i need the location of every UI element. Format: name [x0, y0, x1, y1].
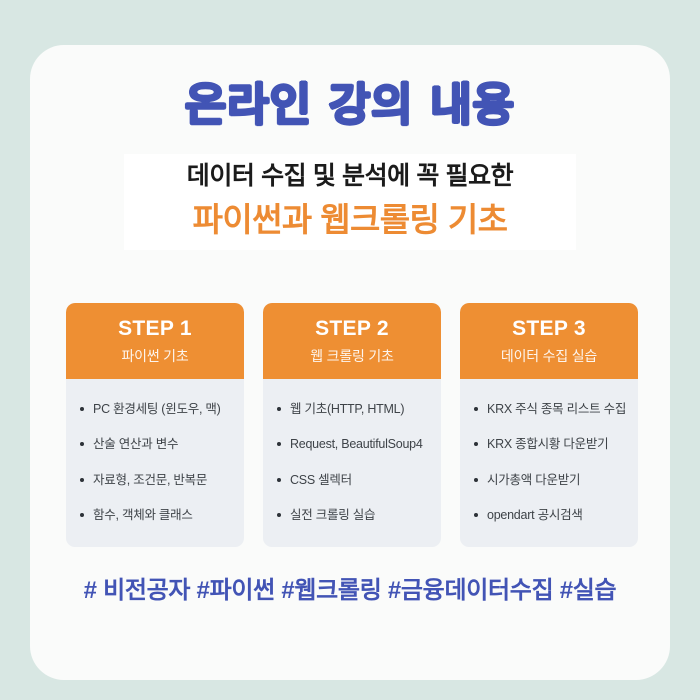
- hashtag-footer: # 비전공자 #파이썬 #웹크롤링 #금융데이터수집 #실습: [30, 570, 670, 605]
- list-item-label: 실전 크롤링 실습: [290, 508, 375, 522]
- step-card-2-header: STEP 2 웹 크롤링 기초: [263, 303, 441, 379]
- step-card-2-subtitle: 웹 크롤링 기초: [269, 346, 435, 366]
- bullet-dot-icon: [80, 513, 84, 517]
- step-card-2-title: STEP 2: [269, 317, 435, 341]
- step-card-1-header: STEP 1 파이썬 기초: [66, 303, 244, 379]
- list-item: KRX 주식 종목 리스트 수집: [472, 401, 632, 417]
- list-item-label: CSS 셀렉터: [290, 473, 352, 487]
- bullet-dot-icon: [80, 442, 84, 446]
- subtitle-primary: 데이터 수집 및 분석에 꼭 필요한: [124, 160, 576, 193]
- bullet-dot-icon: [277, 442, 281, 446]
- step-card-3-header: STEP 3 데이터 수집 실습: [460, 303, 638, 379]
- content-panel: 온라인 강의 내용 데이터 수집 및 분석에 꼭 필요한 파이썬과 웹크롤링 기…: [30, 45, 670, 680]
- list-item-label: Request, BeautifulSoup4: [290, 437, 423, 451]
- list-item: 자료형, 조건문, 반복문: [78, 472, 238, 488]
- subtitle-highlight: 파이썬과 웹크롤링 기초: [124, 200, 576, 240]
- step-card-1-body: PC 환경세팅 (윈도우, 맥) 산술 연산과 변수 자료형, 조건문, 반복문: [66, 379, 244, 547]
- list-item-label: 함수, 객체와 클래스: [93, 508, 193, 522]
- list-item-label: 산술 연산과 변수: [93, 437, 178, 451]
- step-card-3-title: STEP 3: [466, 317, 632, 341]
- bullet-dot-icon: [474, 442, 478, 446]
- list-item: 산술 연산과 변수: [78, 436, 238, 452]
- list-item-label: KRX 주식 종목 리스트 수집: [487, 402, 626, 416]
- list-item: 시가총액 다운받기: [472, 472, 632, 488]
- list-item: 웹 기초(HTTP, HTML): [275, 401, 435, 417]
- subtitle-band: 데이터 수집 및 분석에 꼭 필요한 파이썬과 웹크롤링 기초: [124, 154, 576, 249]
- step-card-1: STEP 1 파이썬 기초 PC 환경세팅 (윈도우, 맥) 산술 연산과 변수: [66, 303, 244, 547]
- step-card-3-list: KRX 주식 종목 리스트 수집 KRX 종합시황 다운받기 시가총액 다운받기: [472, 401, 632, 523]
- list-item-label: PC 환경세팅 (윈도우, 맥): [93, 402, 221, 416]
- bullet-dot-icon: [474, 407, 478, 411]
- list-item: 함수, 객체와 클래스: [78, 507, 238, 523]
- step-card-2-list: 웹 기초(HTTP, HTML) Request, BeautifulSoup4…: [275, 401, 435, 523]
- list-item-label: opendart 공시검색: [487, 508, 583, 522]
- list-item: CSS 셀렉터: [275, 472, 435, 488]
- list-item: Request, BeautifulSoup4: [275, 436, 435, 452]
- list-item-label: KRX 종합시황 다운받기: [487, 437, 608, 451]
- bullet-dot-icon: [80, 478, 84, 482]
- list-item-label: 웹 기초(HTTP, HTML): [290, 402, 404, 416]
- bullet-dot-icon: [80, 407, 84, 411]
- list-item: opendart 공시검색: [472, 507, 632, 523]
- steps-container: STEP 1 파이썬 기초 PC 환경세팅 (윈도우, 맥) 산술 연산과 변수: [66, 303, 638, 547]
- list-item-label: 자료형, 조건문, 반복문: [93, 473, 207, 487]
- step-card-1-title: STEP 1: [72, 317, 238, 341]
- bullet-dot-icon: [474, 478, 478, 482]
- bullet-dot-icon: [277, 407, 281, 411]
- list-item: PC 환경세팅 (윈도우, 맥): [78, 401, 238, 417]
- step-card-1-subtitle: 파이썬 기초: [72, 346, 238, 366]
- list-item: KRX 종합시황 다운받기: [472, 436, 632, 452]
- poster-canvas: 온라인 강의 내용 데이터 수집 및 분석에 꼭 필요한 파이썬과 웹크롤링 기…: [0, 0, 700, 700]
- header-section: 온라인 강의 내용 데이터 수집 및 분석에 꼭 필요한 파이썬과 웹크롤링 기…: [30, 45, 670, 250]
- step-card-2-body: 웹 기초(HTTP, HTML) Request, BeautifulSoup4…: [263, 379, 441, 547]
- bullet-dot-icon: [474, 513, 478, 517]
- step-card-1-list: PC 환경세팅 (윈도우, 맥) 산술 연산과 변수 자료형, 조건문, 반복문: [78, 401, 238, 523]
- bullet-dot-icon: [277, 513, 281, 517]
- step-card-3: STEP 3 데이터 수집 실습 KRX 주식 종목 리스트 수집 KRX 종합…: [460, 303, 638, 547]
- list-item: 실전 크롤링 실습: [275, 507, 435, 523]
- bullet-dot-icon: [277, 478, 281, 482]
- page-title: 온라인 강의 내용: [30, 45, 670, 130]
- step-card-3-subtitle: 데이터 수집 실습: [466, 346, 632, 366]
- list-item-label: 시가총액 다운받기: [487, 473, 580, 487]
- step-card-2: STEP 2 웹 크롤링 기초 웹 기초(HTTP, HTML) Request…: [263, 303, 441, 547]
- step-card-3-body: KRX 주식 종목 리스트 수집 KRX 종합시황 다운받기 시가총액 다운받기: [460, 379, 638, 547]
